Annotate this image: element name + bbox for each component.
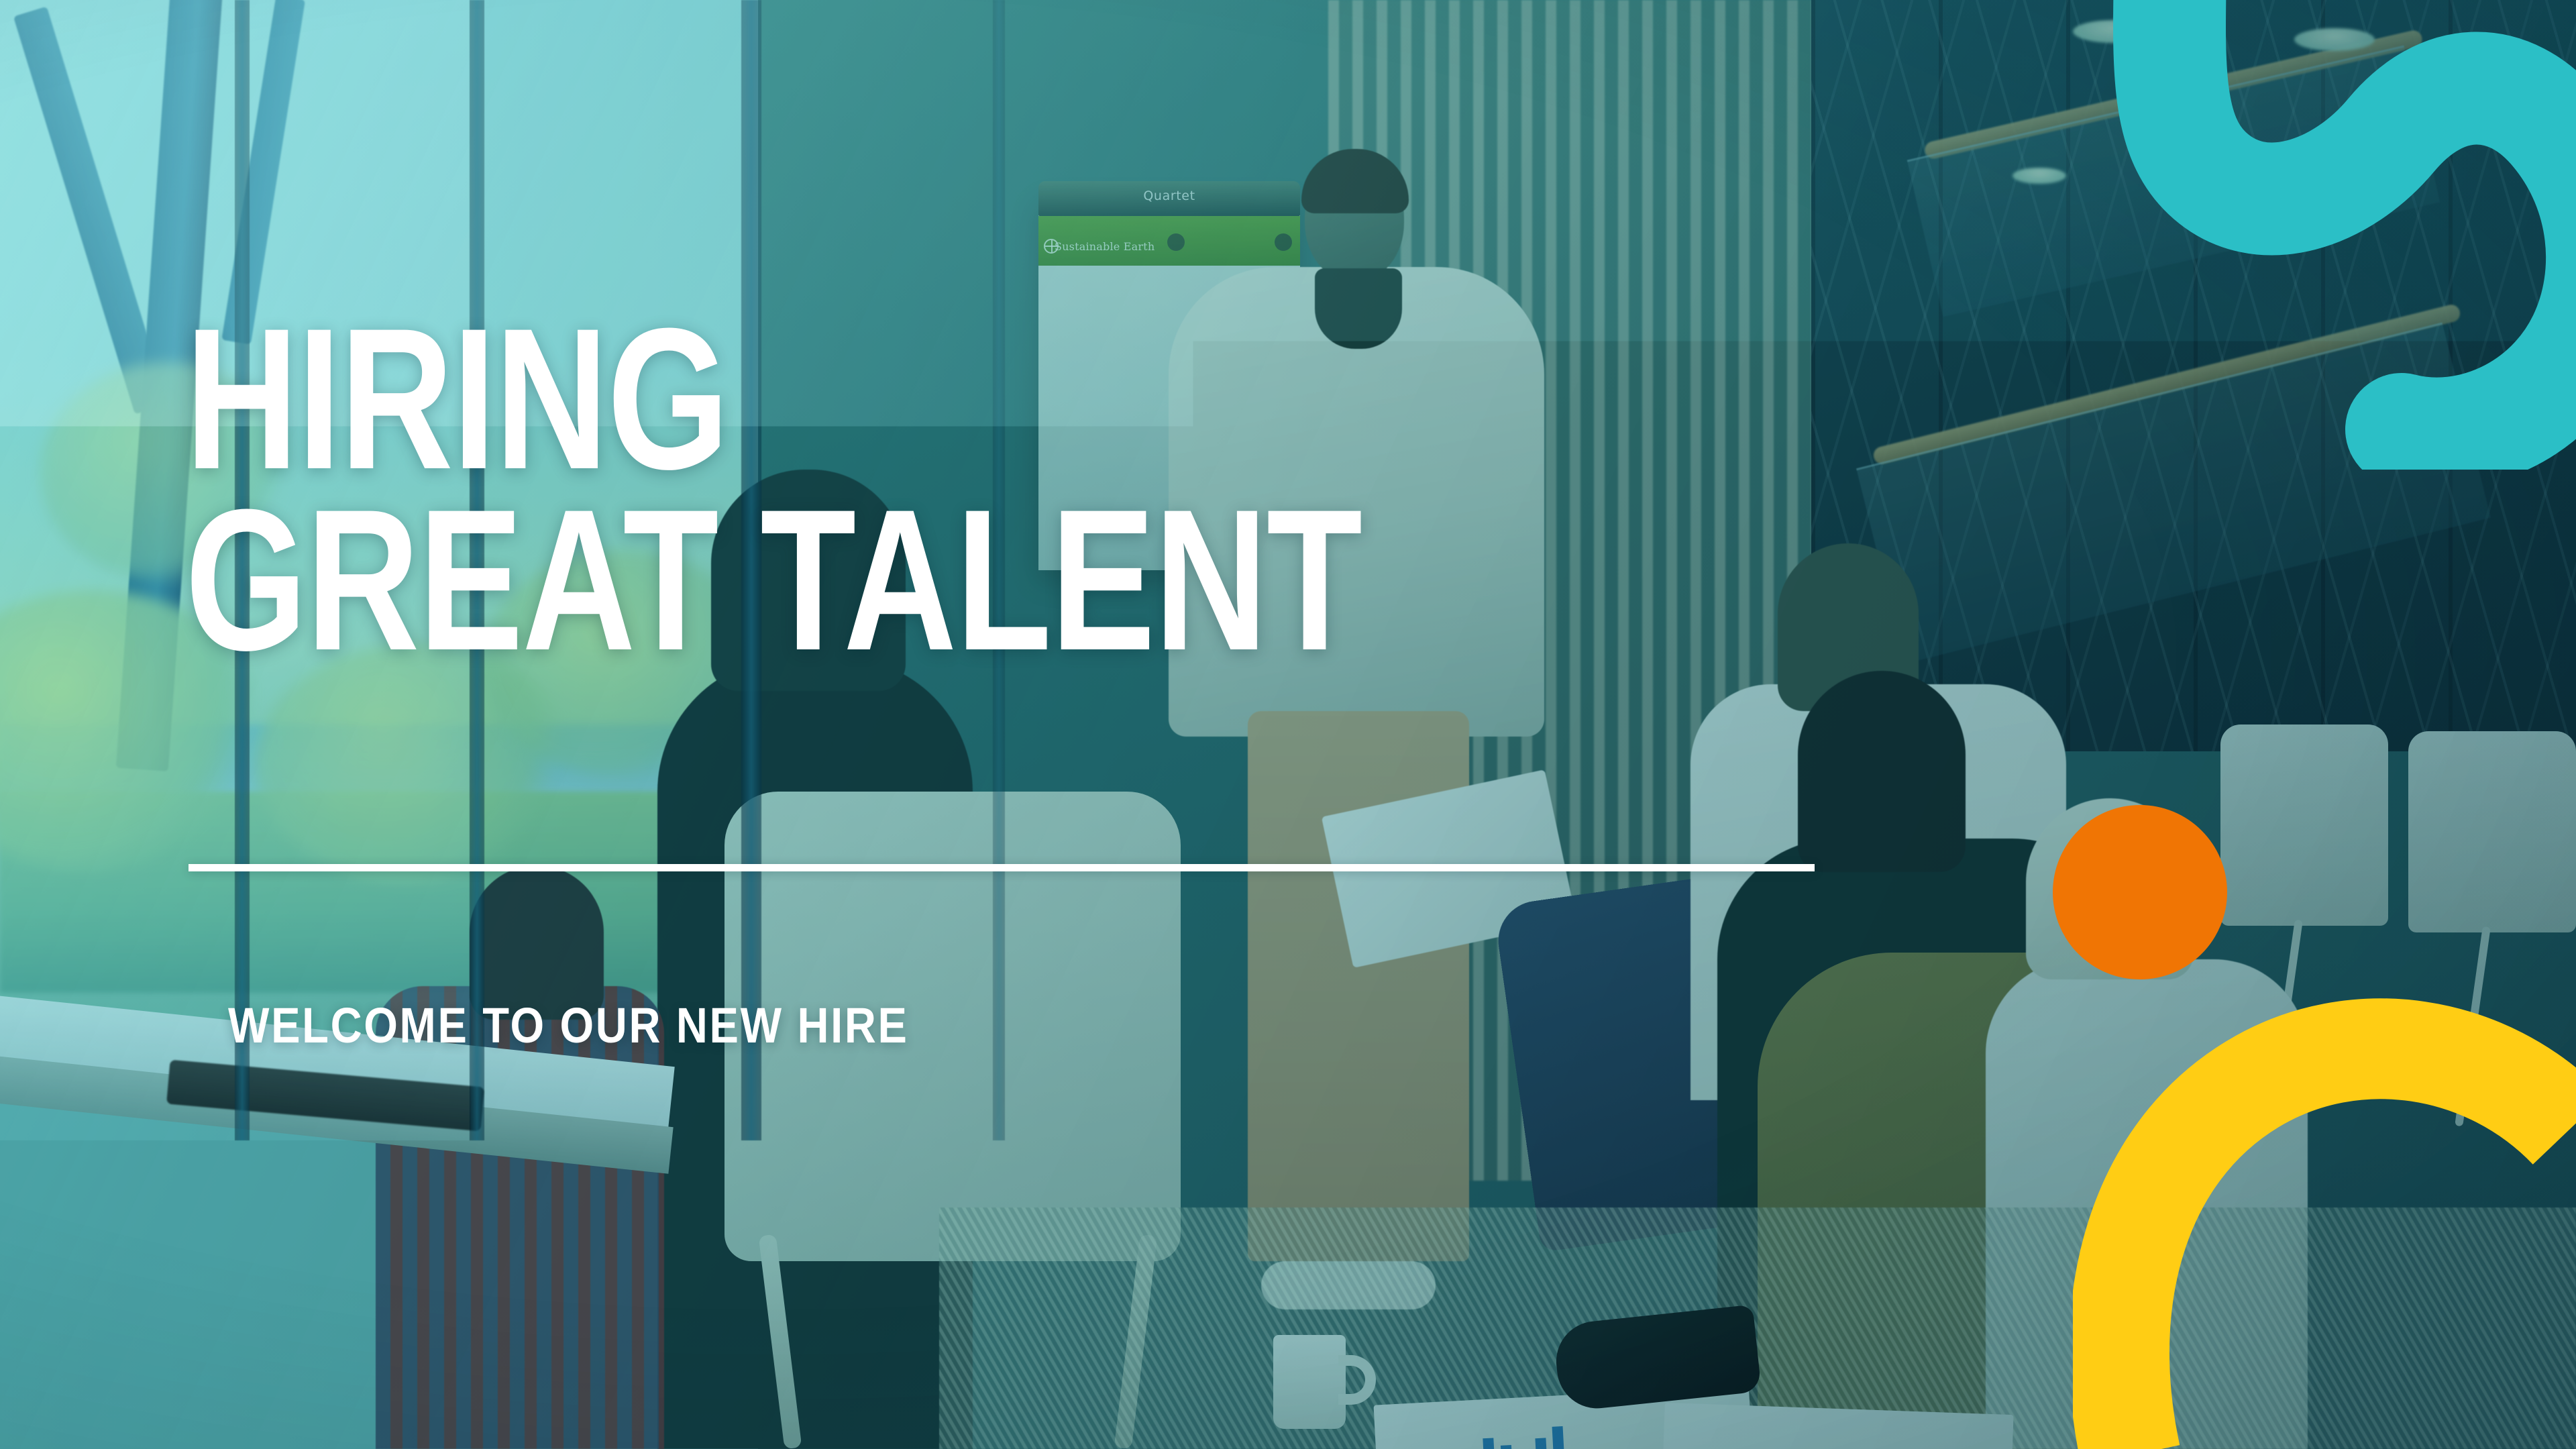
headline-line-1: HIRING [185,302,1361,495]
page-title: HIRING GREAT TALENT [185,302,1361,676]
divider-rule [189,864,1815,871]
banner-content: HIRING GREAT TALENT WELCOME TO OUR NEW H… [0,0,2576,1449]
hiring-banner: Quartet Sustainable Earth [0,0,2576,1449]
headline-line-2: GREAT TALENT [185,483,1361,676]
banner-subtitle: WELCOME TO OUR NEW HIRE [228,997,909,1054]
